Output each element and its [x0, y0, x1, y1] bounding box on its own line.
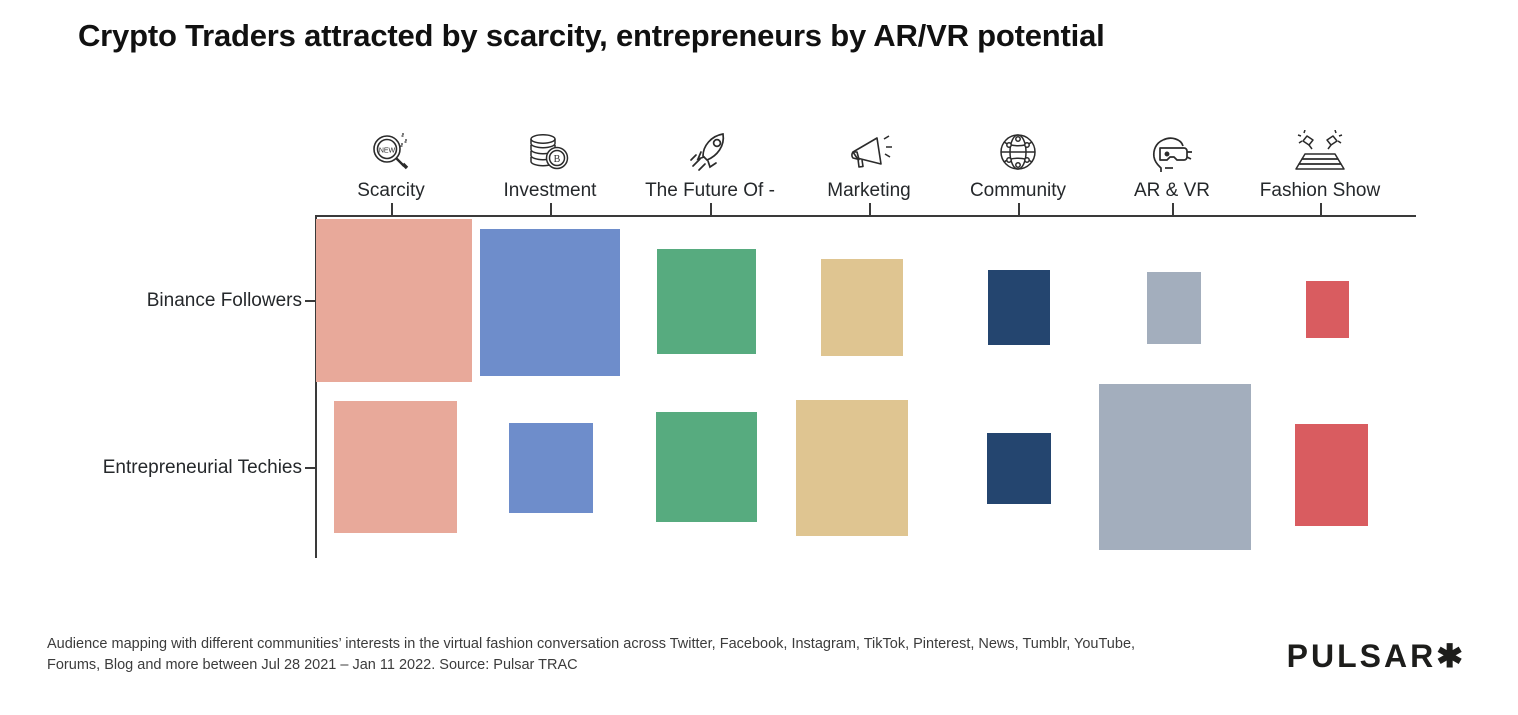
- data-cell: [1295, 424, 1368, 526]
- x-axis-tick: [391, 203, 393, 216]
- footnote: Audience mapping with different communit…: [47, 634, 1247, 676]
- data-cell: [1099, 384, 1251, 550]
- x-axis-line: [315, 215, 1416, 217]
- footnote-line-2: Forums, Blog and more between Jul 28 202…: [47, 655, 1247, 676]
- data-cell: [480, 229, 620, 376]
- data-cell: [1306, 281, 1349, 338]
- row-label-binance-followers: Binance Followers: [2, 290, 302, 312]
- data-cell: [657, 249, 756, 354]
- svg-text:B: B: [554, 154, 561, 165]
- data-cell: [316, 219, 472, 382]
- pulsar-logo: PULSAR✱: [1287, 637, 1466, 675]
- x-axis-tick: [1018, 203, 1020, 216]
- footnote-line-1: Audience mapping with different communit…: [47, 634, 1247, 655]
- data-cell: [987, 433, 1051, 504]
- x-axis-tick: [1320, 203, 1322, 216]
- y-axis-labels: Binance Followers Entrepreneurial Techie…: [0, 0, 302, 620]
- data-cell: [821, 259, 903, 356]
- chart-page: Crypto Traders attracted by scarcity, en…: [0, 0, 1518, 715]
- x-axis-tick: [710, 203, 712, 216]
- column-header-fashion: Fashion Show: [1225, 128, 1415, 202]
- data-cell: [509, 423, 593, 513]
- x-axis-tick: [550, 203, 552, 216]
- data-cell: [656, 412, 757, 522]
- data-cell: [988, 270, 1050, 345]
- svg-text:NEW: NEW: [379, 148, 396, 155]
- x-axis-tick: [869, 203, 871, 216]
- chart-plot-area: NEW Scarcity: [0, 0, 1518, 620]
- data-cell: [334, 401, 457, 533]
- fashion-runway-icon: [1225, 128, 1415, 174]
- data-cell: [1147, 272, 1201, 344]
- y-axis-tick: [305, 467, 317, 469]
- column-label: Fashion Show: [1225, 180, 1415, 202]
- row-label-entrepreneurial-techies: Entrepreneurial Techies: [2, 457, 302, 479]
- x-axis-tick: [1172, 203, 1174, 216]
- data-cell: [796, 400, 908, 536]
